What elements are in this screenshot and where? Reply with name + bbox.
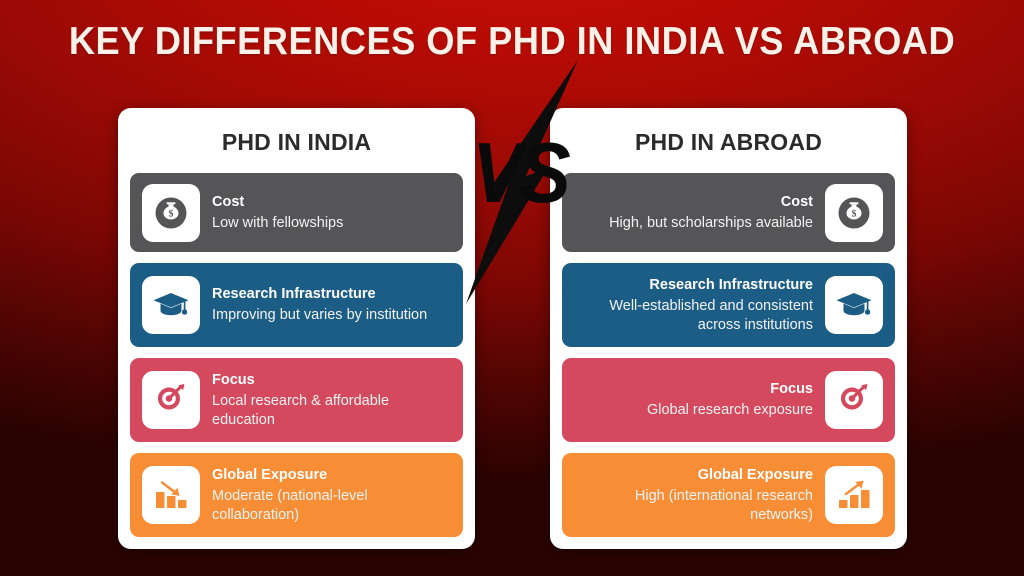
- target-dart-icon: [142, 371, 200, 429]
- page-title: KEY DIFFERENCES OF PHD IN INDIA VS ABROA…: [36, 22, 988, 63]
- row-desc: Local research & affordable education: [212, 392, 439, 430]
- graduation-cap-icon: [142, 276, 200, 334]
- svg-text:$: $: [169, 208, 174, 219]
- row-title: Research Infrastructure: [212, 285, 439, 303]
- row-text: Cost Low with fellowships: [200, 193, 451, 233]
- row-desc: Well-established and consistent across i…: [586, 297, 813, 335]
- graduation-cap-icon: [825, 276, 883, 334]
- bar-chart-down-icon: [142, 466, 200, 524]
- row-title: Global Exposure: [586, 466, 813, 484]
- row-text: Global Exposure High (international rese…: [574, 466, 825, 525]
- row-text: Research Infrastructure Improving but va…: [200, 285, 451, 325]
- comparison-card-india: PHD IN INDIA $ Cost Low with fellowships: [118, 108, 475, 549]
- infographic-canvas: KEY DIFFERENCES OF PHD IN INDIA VS ABROA…: [0, 0, 1024, 576]
- row-global-exposure-abroad: Global Exposure High (international rese…: [562, 453, 895, 537]
- row-text: Research Infrastructure Well-established…: [574, 276, 825, 335]
- row-desc: High (international research networks): [586, 487, 813, 525]
- row-global-exposure-india: Global Exposure Moderate (national-level…: [130, 453, 463, 537]
- target-dart-icon: [825, 371, 883, 429]
- row-text: Focus Local research & affordable educat…: [200, 371, 451, 430]
- row-title: Focus: [212, 371, 439, 389]
- row-title: Global Exposure: [212, 466, 439, 484]
- card-header-abroad: PHD IN ABROAD: [562, 108, 895, 173]
- bar-chart-up-icon: [825, 466, 883, 524]
- row-cost-india: $ Cost Low with fellowships: [130, 173, 463, 252]
- row-focus-india: Focus Local research & affordable educat…: [130, 358, 463, 442]
- row-desc: Improving but varies by institution: [212, 306, 439, 325]
- row-focus-abroad: Focus Global research exposure: [562, 358, 895, 442]
- row-cost-abroad: $ Cost High, but scholarships available: [562, 173, 895, 252]
- row-desc: Moderate (national-level collaboration): [212, 487, 439, 525]
- row-desc: Global research exposure: [586, 401, 813, 420]
- comparison-card-abroad: PHD IN ABROAD $ Cost High, but scholarsh…: [550, 108, 907, 549]
- money-bag-icon: $: [142, 184, 200, 242]
- money-bag-icon: $: [825, 184, 883, 242]
- row-title: Focus: [586, 380, 813, 398]
- row-title: Research Infrastructure: [586, 276, 813, 294]
- row-title: Cost: [212, 193, 439, 211]
- row-desc: Low with fellowships: [212, 214, 439, 233]
- svg-text:$: $: [852, 208, 857, 219]
- row-research-infrastructure-abroad: Research Infrastructure Well-established…: [562, 263, 895, 347]
- row-research-infrastructure-india: Research Infrastructure Improving but va…: [130, 263, 463, 347]
- card-header-india: PHD IN INDIA: [130, 108, 463, 173]
- row-text: Cost High, but scholarships available: [574, 193, 825, 233]
- row-title: Cost: [586, 193, 813, 211]
- row-desc: High, but scholarships available: [586, 214, 813, 233]
- row-text: Global Exposure Moderate (national-level…: [200, 466, 451, 525]
- row-text: Focus Global research exposure: [574, 380, 825, 420]
